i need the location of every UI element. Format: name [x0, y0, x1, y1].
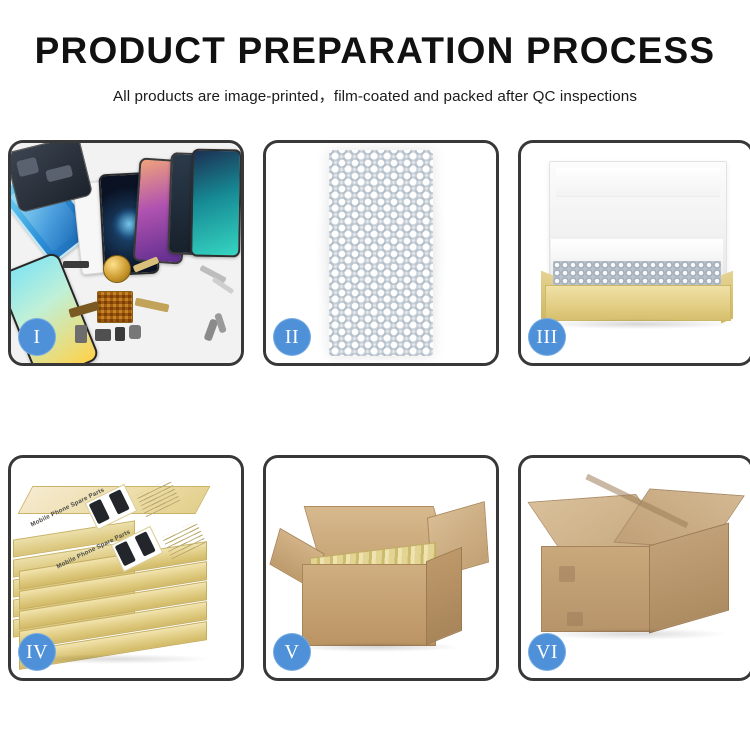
part-antenna-bar [63, 261, 89, 268]
part-small-2 [95, 329, 111, 341]
process-step-6[interactable]: VI [518, 455, 750, 681]
part-small-3 [115, 327, 125, 341]
sealed-carton-handle-2 [567, 612, 583, 626]
carton-right-panel [426, 547, 462, 646]
mailer-front-panel [545, 285, 731, 321]
step-badge-2: II [273, 318, 311, 356]
page-title: PRODUCT PREPARATION PROCESS [0, 0, 750, 71]
step-badge-4: IV [18, 633, 56, 671]
part-small-1 [75, 325, 87, 343]
part-small-4 [129, 325, 141, 339]
carton-front-panel [302, 564, 436, 646]
process-step-grid: I II III [8, 140, 742, 678]
mailer-bubble-wrap-contents [553, 261, 721, 287]
process-step-1[interactable]: I [8, 140, 244, 366]
step-badge-5: V [273, 633, 311, 671]
carton-shadow [292, 642, 462, 652]
part-chip-array [97, 291, 133, 323]
sealed-carton-front-panel [541, 546, 653, 632]
sealed-carton-shadow [537, 628, 729, 640]
mailer-shadow [541, 319, 735, 329]
page-header: PRODUCT PREPARATION PROCESS All products… [0, 0, 750, 106]
part-flex-cable-2 [135, 298, 170, 313]
step-badge-1: I [18, 318, 56, 356]
step-badge-6: VI [528, 633, 566, 671]
bubble-wrap-sheet [329, 150, 433, 356]
step-badge-3: III [528, 318, 566, 356]
process-step-2[interactable]: II [263, 140, 499, 366]
part-speaker-coil [103, 255, 131, 283]
page-subtitle: All products are image-printed，film-coat… [0, 71, 750, 106]
part-screwdriver-2 [214, 312, 227, 333]
process-step-3[interactable]: III [518, 140, 750, 366]
process-step-5[interactable]: V [263, 455, 499, 681]
phone-teal-display [190, 149, 241, 258]
process-step-4[interactable]: Mobile Phone Spare Parts Mobile Phone Sp… [8, 455, 244, 681]
sealed-carton-handle-1 [559, 566, 575, 582]
